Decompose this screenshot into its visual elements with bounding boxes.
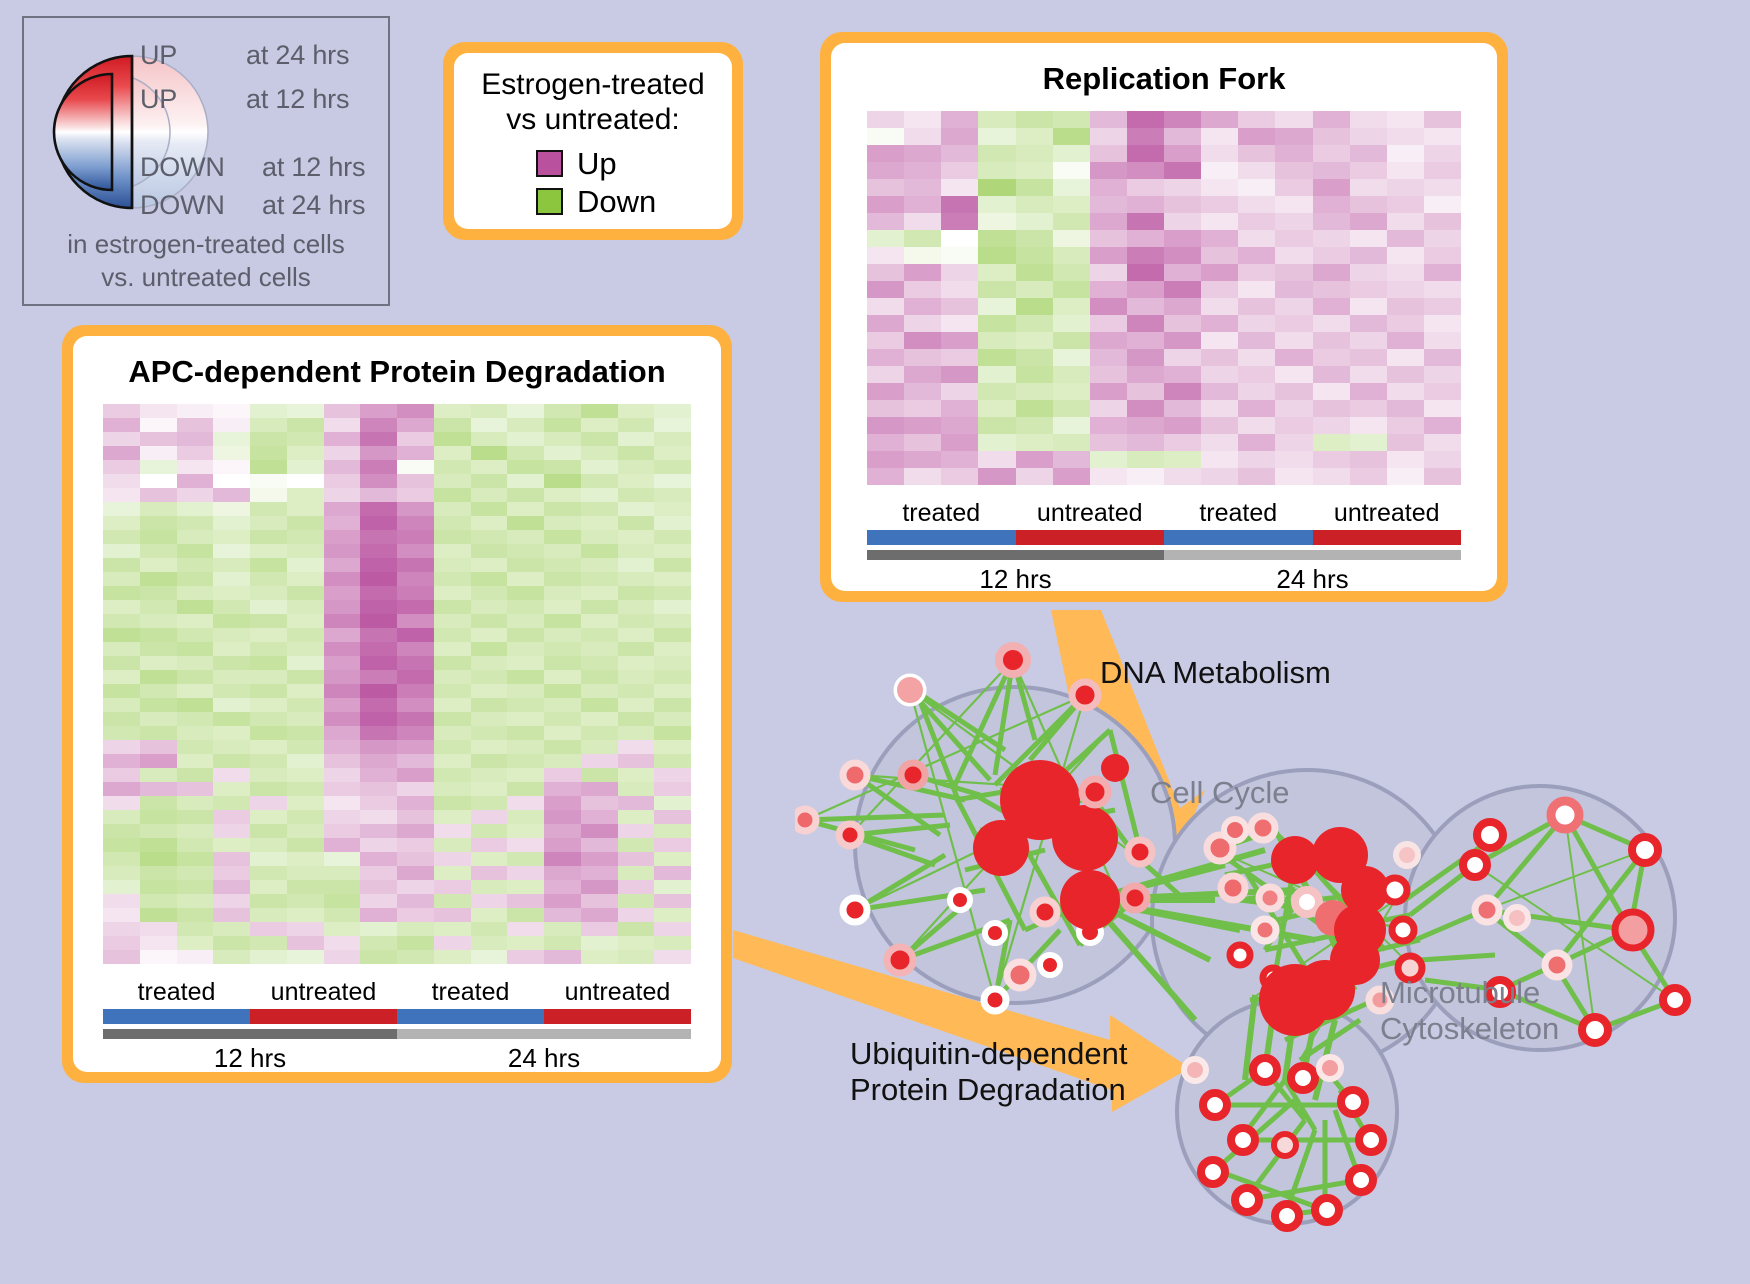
heatmap-cell xyxy=(397,544,434,558)
heatmap-cell xyxy=(1201,434,1238,451)
heatmap-cell xyxy=(140,432,177,446)
heatmap-cell xyxy=(1350,111,1387,128)
heatmap-cell xyxy=(471,936,508,950)
heatmap-cell xyxy=(287,922,324,936)
heatmap-cell xyxy=(507,614,544,628)
heatmap-cell xyxy=(904,298,941,315)
heatmap-cell xyxy=(544,936,581,950)
heatmap-cell xyxy=(213,572,250,586)
heatmap-cell xyxy=(654,586,691,600)
group-labels-replication-fork: treated untreated treated untreated xyxy=(867,499,1461,528)
heatmap-cell xyxy=(507,908,544,922)
heatmap-cell xyxy=(177,418,214,432)
heatmap-cell xyxy=(1127,230,1164,247)
heatmap-cell xyxy=(140,460,177,474)
heatmap-cell xyxy=(324,894,361,908)
heatmap-cell xyxy=(324,460,361,474)
heatmap-cell xyxy=(250,656,287,670)
heatmap-cell xyxy=(654,726,691,740)
heatmap-cell xyxy=(867,128,904,145)
heatmap-cell xyxy=(213,614,250,628)
heatmap-cell xyxy=(1238,298,1275,315)
heatmap-cell xyxy=(250,586,287,600)
heatmap-cell xyxy=(397,404,434,418)
heatmap-cell xyxy=(1201,264,1238,281)
heatmap-cell xyxy=(103,600,140,614)
heatmap-cell xyxy=(1164,451,1201,468)
heatmap-cell xyxy=(1387,383,1424,400)
heatmap-cell xyxy=(1238,213,1275,230)
heatmap-cell xyxy=(177,852,214,866)
heatmap-cell xyxy=(287,810,324,824)
heatmap-cell xyxy=(1127,162,1164,179)
heatmap-cell xyxy=(581,544,618,558)
heatmap-cell xyxy=(507,726,544,740)
heatmap-cell xyxy=(213,502,250,516)
heatmap-cell xyxy=(324,628,361,642)
heatmap-cell xyxy=(941,434,978,451)
heatmap-cell xyxy=(287,642,324,656)
heatmap-cell xyxy=(654,642,691,656)
heatmap-cell xyxy=(434,642,471,656)
heatmap-cell xyxy=(904,196,941,213)
heatmap-cell xyxy=(287,754,324,768)
heatmap-cell xyxy=(471,824,508,838)
heatmap-cell xyxy=(213,936,250,950)
heatmap-cell xyxy=(471,502,508,516)
heatmap-cell xyxy=(544,908,581,922)
heatmap-cell xyxy=(434,628,471,642)
heatmap-cell xyxy=(397,894,434,908)
heatmap-cell xyxy=(177,432,214,446)
heatmap-cell xyxy=(1275,451,1312,468)
heatmap-cell xyxy=(287,600,324,614)
heatmap-cell xyxy=(507,488,544,502)
heatmap-cell xyxy=(581,432,618,446)
heatmap-cell xyxy=(103,810,140,824)
heatmap-cell xyxy=(324,712,361,726)
heatmap-cell xyxy=(177,446,214,460)
heatmap-cell xyxy=(507,824,544,838)
heatmap-cell xyxy=(434,544,471,558)
heatmap-cell xyxy=(287,796,324,810)
heatmap-cell xyxy=(1053,400,1090,417)
heatmap-cell xyxy=(103,922,140,936)
heatmap-cell xyxy=(618,936,655,950)
heatmap-cell xyxy=(941,349,978,366)
heatmap-cell xyxy=(360,796,397,810)
heatmap-cell xyxy=(287,712,324,726)
heatmap-cell xyxy=(1424,128,1461,145)
heatmap-cell xyxy=(287,628,324,642)
heatmap-cell xyxy=(250,446,287,460)
heatmap-cell xyxy=(654,880,691,894)
heatmap-cell xyxy=(1238,383,1275,400)
heatmap-cell xyxy=(978,400,1015,417)
heatmap-cell xyxy=(1350,349,1387,366)
heatmap-cell xyxy=(1313,315,1350,332)
heatmap-cell xyxy=(507,922,544,936)
heatmap-cell xyxy=(1164,315,1201,332)
heatmap-cell xyxy=(544,782,581,796)
heatmap-cell xyxy=(1053,349,1090,366)
heatmap-cell xyxy=(581,600,618,614)
heatmap-cell xyxy=(1275,196,1312,213)
heatmap-cell xyxy=(471,656,508,670)
heatmap-cell xyxy=(324,796,361,810)
heatmap-cell xyxy=(1053,315,1090,332)
heatmap-cell xyxy=(103,558,140,572)
heatmap-cell xyxy=(1313,366,1350,383)
heatmap-cell xyxy=(1090,332,1127,349)
heatmap-cell xyxy=(360,852,397,866)
heatmap-cell xyxy=(250,712,287,726)
heatmap-cell xyxy=(177,782,214,796)
heatmap-cell xyxy=(1424,264,1461,281)
heatmap-cell xyxy=(1238,434,1275,451)
heatmap-cell xyxy=(1201,162,1238,179)
heatmap-cell xyxy=(654,824,691,838)
heatmap-cell xyxy=(103,544,140,558)
heatmap-cell xyxy=(434,600,471,614)
heatmap-cell xyxy=(103,698,140,712)
heatmap-cell xyxy=(360,698,397,712)
heatmap-cell xyxy=(140,712,177,726)
heatmap-cell xyxy=(360,782,397,796)
heatmap-cell xyxy=(397,726,434,740)
heatmap-cell xyxy=(397,516,434,530)
heatmap-cell xyxy=(397,418,434,432)
heatmap-cell xyxy=(581,866,618,880)
group-label: untreated xyxy=(1016,499,1165,528)
heatmap-cell xyxy=(507,502,544,516)
heatmap-cell xyxy=(978,111,1015,128)
heatmap-cell xyxy=(103,656,140,670)
heatmap-cell xyxy=(978,298,1015,315)
heatmap-cell xyxy=(1201,247,1238,264)
heatmap-cell xyxy=(618,684,655,698)
heatmap-cell xyxy=(324,936,361,950)
heatmap-cell xyxy=(507,866,544,880)
heatmap-cell xyxy=(904,315,941,332)
heatmap-cell xyxy=(507,670,544,684)
heatmap-cell xyxy=(581,698,618,712)
heatmap-cell xyxy=(544,684,581,698)
heatmap-cell xyxy=(1275,400,1312,417)
heatmap-cell xyxy=(544,838,581,852)
heatmap-cell xyxy=(1127,451,1164,468)
heatmap-cell xyxy=(1090,162,1127,179)
heatmap-cell xyxy=(177,698,214,712)
heatmap-cell xyxy=(544,698,581,712)
heatmap-cell xyxy=(1424,298,1461,315)
heatmap-cell xyxy=(581,404,618,418)
cluster-label-microtubule-line2: Cytoskeleton xyxy=(1380,1011,1559,1047)
heatmap-cell xyxy=(250,432,287,446)
heatmap-cell xyxy=(471,782,508,796)
heatmap-cell xyxy=(1387,366,1424,383)
heatmap-cell xyxy=(140,866,177,880)
heatmap-cell xyxy=(581,922,618,936)
heatmap-cell xyxy=(324,530,361,544)
heatmap-cell xyxy=(250,530,287,544)
up-down-legend: Estrogen-treated vs untreated: Up Down xyxy=(443,42,743,240)
heatmap-cell xyxy=(471,894,508,908)
heatmap-cell xyxy=(1127,145,1164,162)
heatmap-cell xyxy=(324,474,361,488)
heatmap-cell xyxy=(544,656,581,670)
heatmap-cell xyxy=(434,614,471,628)
heatmap-cell xyxy=(250,782,287,796)
heatmap-cell xyxy=(103,516,140,530)
heatmap-cell xyxy=(618,544,655,558)
heatmap-cell xyxy=(1201,383,1238,400)
heatmap-cell xyxy=(324,404,361,418)
heatmap-cell xyxy=(434,866,471,880)
heatmap-cell xyxy=(434,838,471,852)
cluster-label-ubiquitin-line2: Protein Degradation xyxy=(850,1072,1128,1108)
heatmap-cell xyxy=(360,740,397,754)
heatmap-cell xyxy=(434,712,471,726)
heatmap-cell xyxy=(397,614,434,628)
heatmap-cell xyxy=(140,810,177,824)
cluster-label-ubiquitin: Ubiquitin-dependent Protein Degradation xyxy=(850,1036,1128,1108)
heatmap-cell xyxy=(654,796,691,810)
heatmap-cell xyxy=(287,502,324,516)
heatmap-cell xyxy=(1053,213,1090,230)
heatmap-cell xyxy=(360,754,397,768)
heatmap-cell xyxy=(618,950,655,964)
heatmap-cell xyxy=(544,474,581,488)
heatmap-cell xyxy=(177,460,214,474)
heatmap-cell xyxy=(213,474,250,488)
heatmap-cell xyxy=(978,383,1015,400)
heatmap-cell xyxy=(1275,162,1312,179)
heatmap-cell xyxy=(287,880,324,894)
heatmap-cell xyxy=(177,474,214,488)
heatmap-cell xyxy=(507,544,544,558)
heatmap-cell xyxy=(434,852,471,866)
heatmap-cell xyxy=(618,922,655,936)
heatmap-cell xyxy=(654,628,691,642)
heatmap-cell xyxy=(581,460,618,474)
heatmap-cell xyxy=(1090,434,1127,451)
heatmap-cell xyxy=(618,586,655,600)
heatmap-cell xyxy=(978,434,1015,451)
heatmap-cell xyxy=(978,264,1015,281)
heatmap-cell xyxy=(581,838,618,852)
heatmap-cell xyxy=(507,754,544,768)
heatmap-cell xyxy=(177,922,214,936)
heatmap-cell xyxy=(941,162,978,179)
heatmap-cell xyxy=(250,572,287,586)
heatmap-cell xyxy=(140,684,177,698)
heatmap-cell xyxy=(397,740,434,754)
heatmap-cell xyxy=(1201,111,1238,128)
heatmap-cell xyxy=(1350,179,1387,196)
heatmap-cell xyxy=(287,446,324,460)
heatmap-cell xyxy=(1090,230,1127,247)
heatmap-cell xyxy=(471,558,508,572)
heatmap-cell xyxy=(1053,247,1090,264)
heatmap-cell xyxy=(1238,247,1275,264)
heatmap-cell xyxy=(324,908,361,922)
heatmap-cell xyxy=(324,740,361,754)
heatmap-cell xyxy=(581,530,618,544)
heatmap-cell xyxy=(324,922,361,936)
heatmap-cell xyxy=(397,922,434,936)
heatmap-cell xyxy=(287,782,324,796)
heatmap-cell xyxy=(1090,400,1127,417)
heatmap-cell xyxy=(867,145,904,162)
heatmap-cell xyxy=(250,936,287,950)
heatmap-cell xyxy=(177,558,214,572)
heatmap-cell xyxy=(360,544,397,558)
heatmap-cell xyxy=(1016,315,1053,332)
heatmap-cell xyxy=(213,768,250,782)
heatmap-cell xyxy=(618,712,655,726)
heatmap-cell xyxy=(618,894,655,908)
heatmap-cell xyxy=(1053,264,1090,281)
heatmap-cell xyxy=(213,684,250,698)
heatmap-cell xyxy=(1090,196,1127,213)
heatmap-cell xyxy=(1238,128,1275,145)
heatmap-cell xyxy=(213,894,250,908)
heatmap-cell xyxy=(581,936,618,950)
heatmap-cell xyxy=(507,796,544,810)
heatmap-cell xyxy=(1127,400,1164,417)
heatmap-cell xyxy=(544,796,581,810)
heatmap-cell xyxy=(1350,400,1387,417)
heatmap-cell xyxy=(360,502,397,516)
heatmap-cell xyxy=(581,572,618,586)
heatmap-cell xyxy=(1016,451,1053,468)
heatmap-cell xyxy=(654,740,691,754)
heatmap-cell xyxy=(1313,128,1350,145)
heatmap-cell xyxy=(867,332,904,349)
heatmap-cell xyxy=(1127,417,1164,434)
heatmap-cell xyxy=(213,950,250,964)
heatmap-cell xyxy=(140,404,177,418)
heatmap-cell xyxy=(250,908,287,922)
heatmap-cell xyxy=(140,880,177,894)
heatmap-cell xyxy=(654,712,691,726)
heatmap-cell xyxy=(177,684,214,698)
heatmap-cell xyxy=(904,111,941,128)
heatmap-cell xyxy=(581,628,618,642)
heatmap-cell xyxy=(287,544,324,558)
heatmap-cell xyxy=(471,572,508,586)
legend-caption: Estrogen-treated vs untreated: xyxy=(454,67,732,138)
heatmap-cell xyxy=(1090,213,1127,230)
heatmap-cell xyxy=(1275,111,1312,128)
heatmap-cell xyxy=(471,880,508,894)
heatmap-cell xyxy=(978,145,1015,162)
heatmap-cell xyxy=(177,530,214,544)
heatmap-cell xyxy=(1164,128,1201,145)
heatmap-cell xyxy=(544,950,581,964)
heatmap-cell xyxy=(1053,281,1090,298)
heatmap-cell xyxy=(1350,332,1387,349)
heatmap-cell xyxy=(1164,230,1201,247)
heatmap-cell xyxy=(471,404,508,418)
heatmap-cell xyxy=(618,530,655,544)
heatmap-cell xyxy=(867,162,904,179)
heatmap-cell xyxy=(213,460,250,474)
heatmap-cell xyxy=(1238,162,1275,179)
heatmap-cell xyxy=(324,810,361,824)
heatmap-cell xyxy=(1164,400,1201,417)
key-row-1-time: at 12 hrs xyxy=(246,84,349,115)
heatmap-cell xyxy=(397,852,434,866)
heatmap-cell xyxy=(544,754,581,768)
heatmap-cell xyxy=(1090,451,1127,468)
heatmap-cell xyxy=(103,586,140,600)
heatmap-cell xyxy=(544,530,581,544)
heatmap-cell xyxy=(397,684,434,698)
key-row-0-time: at 24 hrs xyxy=(246,40,349,71)
heatmap-cell xyxy=(471,544,508,558)
heatmap-cell xyxy=(213,418,250,432)
heatmap-cell xyxy=(1424,247,1461,264)
heatmap-cell xyxy=(213,908,250,922)
heatmap-cell xyxy=(103,782,140,796)
heatmap-cell xyxy=(1313,196,1350,213)
heatmap-cell xyxy=(618,628,655,642)
heatmap-cell xyxy=(287,950,324,964)
heatmap-cell xyxy=(213,712,250,726)
heatmap-cell xyxy=(867,111,904,128)
heatmap-cell xyxy=(103,838,140,852)
heatmap-cell xyxy=(250,544,287,558)
heatmap-cell xyxy=(654,782,691,796)
heatmap-cell xyxy=(213,656,250,670)
heatmap-cell xyxy=(177,810,214,824)
heatmap-cell xyxy=(581,684,618,698)
heatmap-cell xyxy=(867,213,904,230)
heatmap-cell xyxy=(507,530,544,544)
heatmap-cell xyxy=(324,642,361,656)
heatmap-cell xyxy=(103,474,140,488)
heatmap-cell xyxy=(507,432,544,446)
heatmap-cell xyxy=(397,880,434,894)
heatmap-cell xyxy=(618,782,655,796)
figure-canvas: UP at 24 hrs UP at 12 hrs DOWN at 12 hrs… xyxy=(0,0,1750,1279)
heatmap-cell xyxy=(1016,230,1053,247)
heatmap-cell xyxy=(177,614,214,628)
heatmap-cell xyxy=(397,432,434,446)
heatmap-cell xyxy=(360,684,397,698)
heatmap-cell xyxy=(213,670,250,684)
heatmap-cell xyxy=(1313,417,1350,434)
heatmap-cell xyxy=(941,196,978,213)
heatmap-cell xyxy=(471,614,508,628)
heatmap-cell xyxy=(941,179,978,196)
heatmap-cell xyxy=(1016,417,1053,434)
heatmap-cell xyxy=(360,474,397,488)
heatmap-cell xyxy=(324,726,361,740)
heatmap-cell xyxy=(654,894,691,908)
heatmap-cell xyxy=(177,404,214,418)
heatmap-cell xyxy=(103,852,140,866)
heatmap-cell xyxy=(1424,179,1461,196)
heatmap-cell xyxy=(213,782,250,796)
heatmap-cell xyxy=(1275,383,1312,400)
heatmap-cell xyxy=(434,936,471,950)
heatmap-cell xyxy=(471,796,508,810)
heatmap-cell xyxy=(1387,417,1424,434)
heatmap-cell xyxy=(1238,468,1275,485)
